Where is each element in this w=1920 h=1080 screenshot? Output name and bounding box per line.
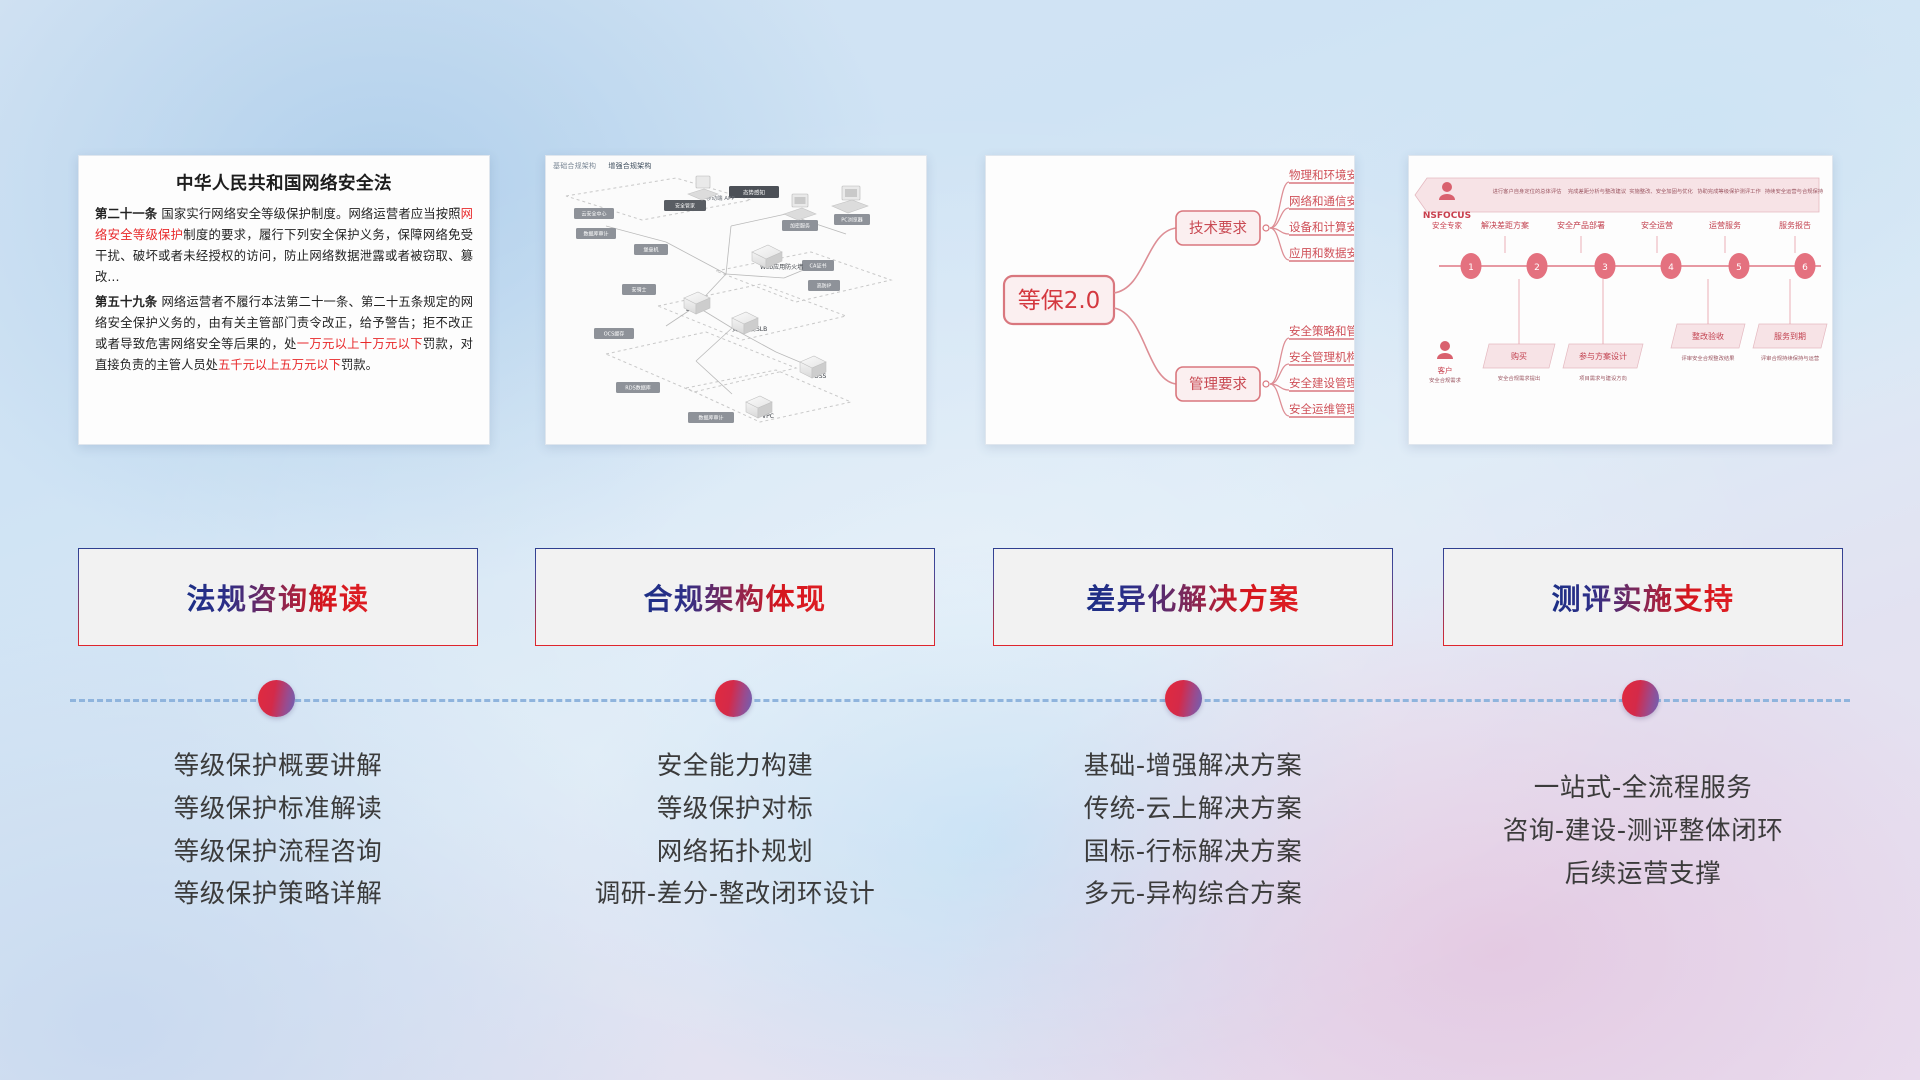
mindmap-branch-2-toggle-icon[interactable] (1263, 381, 1269, 387)
roadmap-left-sub-1: 安全合规需求提出 (1498, 374, 1540, 382)
law-paragraph-1: 第二十一条 国家实行网络安全等级保护制度。网络运营者应当按照网络安全等级保护制度… (95, 204, 473, 289)
roadmap-right-sub-1: 评审安全合规整改结果 (1682, 354, 1736, 362)
mindmap-leaf-1-4: 应用和数据安全 (1289, 246, 1355, 260)
svg-text:堡垒机: 堡垒机 (643, 247, 658, 254)
mindmap-card: 等保2.0 技术要求 物理和环境安全 网络和通信安全 设备和计算安全 (985, 155, 1355, 445)
mindmap-branch-2-label: 管理要求 (1189, 376, 1247, 393)
law-run-2-3: 五千元以上五万元以下 (218, 358, 341, 372)
mindmap-branch-1-toggle-icon[interactable] (1263, 225, 1269, 231)
detail-item-4-1: 一站式-全流程服务 (1423, 767, 1863, 810)
timeline-dot-1[interactable] (258, 680, 295, 717)
roadmap-left-label-1: 购买 (1511, 351, 1527, 361)
svg-text:数据库审计: 数据库审计 (583, 231, 608, 238)
svg-text:数据库审计: 数据库审计 (698, 415, 723, 422)
section-header-label-3: 差异化解决方案 (1086, 576, 1300, 618)
roadmap-customer-sub: 安全合规需求 (1429, 376, 1461, 384)
svg-text:OCS缓存: OCS缓存 (604, 331, 625, 338)
timeline-dot-3[interactable] (1165, 680, 1202, 717)
roadmap-stage-4: 运营服务 (1709, 220, 1741, 230)
roadmap-step-1: 1 (1468, 263, 1474, 273)
roadmap-customer: 客户 (1438, 365, 1453, 375)
mindmap-leaf-2-3: 安全建设管理 (1289, 376, 1355, 390)
roadmap-right-sub-2: 评审合规持续保持与运营 (1761, 354, 1819, 362)
roadmap-brand: NSFOCUS (1423, 211, 1471, 221)
mindmap-leaf-2-1: 安全策略和管理制度 (1289, 324, 1355, 338)
law-paragraph-2: 第五十九条 网络运营者不履行本法第二十一条、第二十五条规定的网络安全保护义务的，… (95, 292, 473, 377)
svg-text:PC浏览器: PC浏览器 (841, 217, 863, 224)
detail-column-4: 一站式-全流程服务 咨询-建设-测评整体闭环 后续运营支撑 (1423, 767, 1863, 895)
roadmap-svg: NSFOCUS 安全专家 进行客户自身定位的总体评估 完成差距分析与整改建议 实… (1409, 156, 1833, 445)
svg-text:RDS数据库: RDS数据库 (625, 385, 651, 392)
roadmap-top-label-5: 持续安全运营与合规保持 (1765, 187, 1824, 195)
mindmap-leaf-2-2: 安全管理机构和人员 (1289, 350, 1355, 364)
detail-column-2: 安全能力构建 等级保护对标 网络拓扑规划 调研-差分-整改闭环设计 (535, 745, 935, 916)
roadmap-step-4: 4 (1668, 263, 1674, 273)
detail-item-4-3: 后续运营支撑 (1423, 853, 1863, 896)
section-header-label-4: 测评实施支持 (1551, 576, 1734, 618)
section-header-label-2: 合规架构体现 (643, 576, 826, 618)
timeline-dashed-line (70, 699, 1850, 702)
mindmap-svg: 等保2.0 技术要求 物理和环境安全 网络和通信安全 设备和计算安全 (986, 156, 1355, 445)
roadmap-stage-2: 安全产品部署 (1557, 220, 1605, 230)
architecture-svg: 云安全中心 数据库审计 堡垒机 安骑士 安全管家 (546, 156, 927, 445)
detail-item-3-4: 多元-异构综合方案 (993, 873, 1393, 916)
section-header-box-1[interactable]: 法规咨询解读 (78, 548, 478, 646)
roadmap-top-label-3: 实施整改、安全加固与优化 (1629, 187, 1693, 195)
roadmap-top-banner (1415, 178, 1819, 212)
detail-item-2-2: 等级保护对标 (535, 788, 935, 831)
roadmap-card: NSFOCUS 安全专家 进行客户自身定位的总体评估 完成差距分析与整改建议 实… (1408, 155, 1833, 445)
roadmap-brand-sub: 安全专家 (1432, 220, 1462, 230)
mindmap-root-label: 等保2.0 (1018, 288, 1101, 314)
detail-item-4-2: 咨询-建设-测评整体闭环 (1423, 810, 1863, 853)
detail-item-3-1: 基础-增强解决方案 (993, 745, 1393, 788)
roadmap-left-label-2: 参与方案设计 (1579, 351, 1627, 361)
law-card-title: 中华人民共和国网络安全法 (95, 170, 473, 195)
roadmap-right-label-1: 整改验收 (1692, 331, 1724, 341)
svg-text:安骑士: 安骑士 (631, 287, 646, 294)
detail-item-1-1: 等级保护概要讲解 (78, 745, 478, 788)
timeline-dot-2[interactable] (715, 680, 752, 717)
law-run-1-0: 国家实行网络安全等级保护制度。网络运营者应当按照 (157, 207, 460, 221)
architecture-diagram-card: 基础合规架构 增强合规架构 (545, 155, 927, 445)
roadmap-right-label-2: 服务到期 (1774, 331, 1806, 341)
mindmap-leaf-2-4: 安全运维管理 (1289, 402, 1355, 416)
roadmap-top-label-1: 进行客户自身定位的总体评估 (1493, 187, 1563, 195)
detail-item-1-4: 等级保护策略详解 (78, 873, 478, 916)
roadmap-top-label-4: 协助完成等级保护测评工作 (1697, 187, 1761, 195)
svg-text:态势感知: 态势感知 (743, 189, 765, 197)
detail-item-2-1: 安全能力构建 (535, 745, 935, 788)
roadmap-top-label-2: 完成差距分析与整改建议 (1568, 187, 1627, 195)
mindmap-leaf-1-1: 物理和环境安全 (1289, 168, 1355, 182)
detail-item-2-3: 网络拓扑规划 (535, 831, 935, 874)
svg-text:加密服务: 加密服务 (790, 223, 810, 230)
detail-item-2-4: 调研-差分-整改闭环设计 (535, 873, 935, 916)
detail-item-1-3: 等级保护流程咨询 (78, 831, 478, 874)
section-header-box-2[interactable]: 合规架构体现 (535, 548, 935, 646)
law-article-label-1: 第二十一条 (95, 207, 157, 221)
roadmap-step-5: 5 (1736, 263, 1742, 273)
mindmap-leaf-1-2: 网络和通信安全 (1289, 194, 1355, 208)
roadmap-stage-5: 服务报告 (1779, 220, 1811, 230)
mindmap-branch-1-label: 技术要求 (1189, 220, 1247, 237)
section-header-box-4[interactable]: 测评实施支持 (1443, 548, 1843, 646)
roadmap-stage-3: 安全运营 (1641, 220, 1673, 230)
roadmap-step-2: 2 (1534, 263, 1540, 273)
law-run-2-4: 罚款。 (341, 358, 378, 372)
roadmap-step-3: 3 (1602, 263, 1608, 273)
svg-text:安全管家: 安全管家 (675, 203, 695, 210)
section-headers-row: 法规咨询解读 合规架构体现 差异化解决方案 测评实施支持 (0, 548, 1920, 646)
roadmap-left-sub-2: 项目需求与建设方向 (1579, 374, 1627, 382)
timeline (0, 670, 1920, 730)
law-article-label-2: 第五十九条 (95, 295, 157, 309)
detail-item-3-3: 国标-行标解决方案 (993, 831, 1393, 874)
mindmap-leaf-1-3: 设备和计算安全 (1289, 220, 1355, 234)
roadmap-step-6: 6 (1802, 263, 1808, 273)
detail-item-1-2: 等级保护标准解读 (78, 788, 478, 831)
svg-text:高防IP: 高防IP (817, 283, 832, 290)
detail-column-1: 等级保护概要讲解 等级保护标准解读 等级保护流程咨询 等级保护策略详解 (78, 745, 478, 916)
law-run-2-1: 一万元以上十万元以下 (297, 337, 423, 351)
law-text-card: 中华人民共和国网络安全法 第二十一条 国家实行网络安全等级保护制度。网络运营者应… (78, 155, 490, 445)
customer-icon (1437, 341, 1453, 359)
detail-column-3: 基础-增强解决方案 传统-云上解决方案 国标-行标解决方案 多元-异构综合方案 (993, 745, 1393, 916)
detail-item-3-2: 传统-云上解决方案 (993, 788, 1393, 831)
roadmap-stage-1: 解决差距方案 (1481, 220, 1529, 230)
svg-text:云安全中心: 云安全中心 (581, 211, 606, 218)
timeline-dot-4[interactable] (1622, 680, 1659, 717)
svg-text:CA证书: CA证书 (810, 263, 827, 270)
section-header-label-1: 法规咨询解读 (186, 576, 369, 618)
section-header-box-3[interactable]: 差异化解决方案 (993, 548, 1393, 646)
